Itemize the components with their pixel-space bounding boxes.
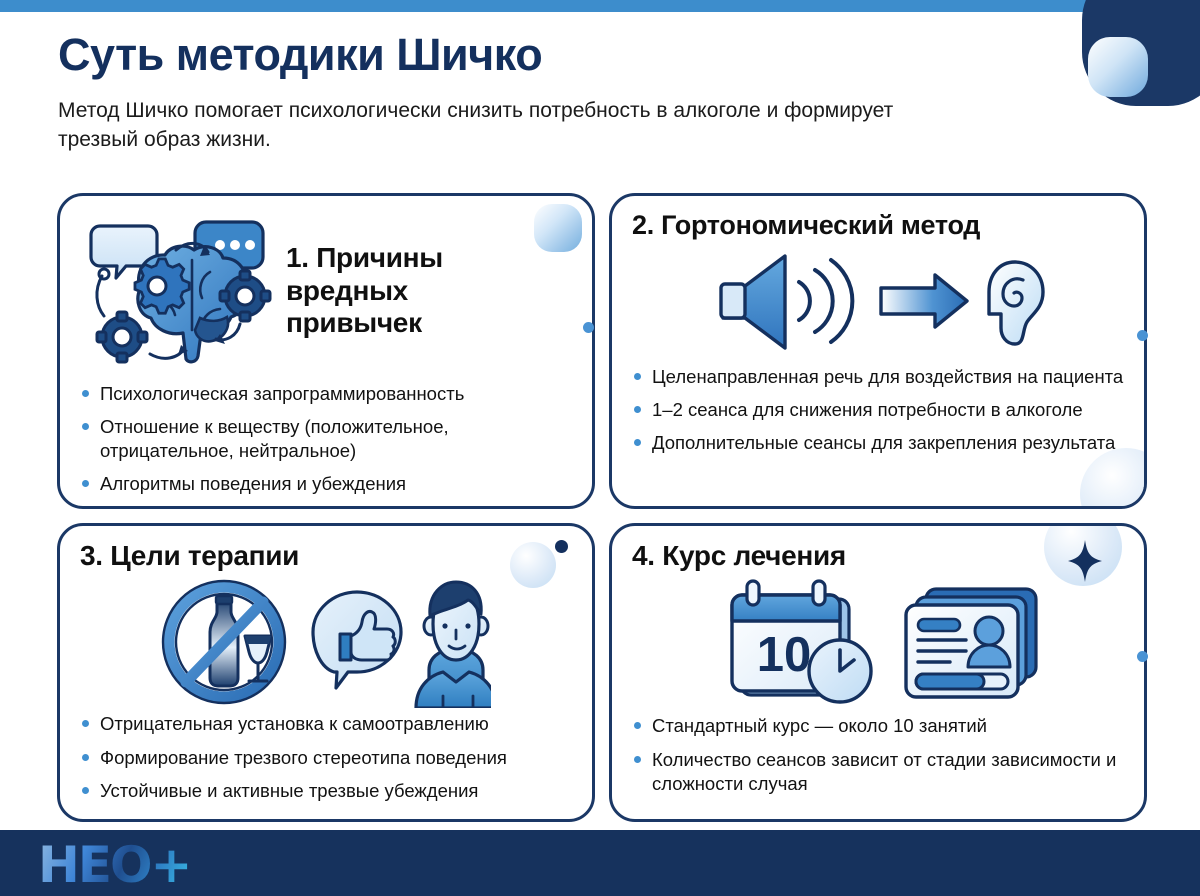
card-causes-of-bad-habits: 1. Причины вредных привычек Психологичес…: [57, 193, 595, 509]
card-decoration-dot: [555, 540, 568, 553]
infographic-page: Суть методики Шичко Метод Шичко помогает…: [0, 0, 1200, 896]
sparkle-icon: [1068, 540, 1102, 582]
list-item: 1–2 сеанса для снижения потребности в ал…: [632, 398, 1124, 422]
card-title: 4. Курс лечения: [632, 540, 846, 572]
accent-dot-left-column: [583, 322, 594, 333]
card-bullet-list: Психологическая запрограммированность От…: [80, 382, 572, 496]
card-gortonomic-method: 2. Гортономический метод: [609, 193, 1147, 509]
list-item: Алгоритмы поведения и убеждения: [80, 472, 572, 496]
card-header-row: 2. Гортономический метод: [632, 210, 1124, 241]
card-title: 3. Цели терапии: [80, 540, 299, 572]
list-item: Дополнительные сеансы для закрепления ре…: [632, 431, 1124, 455]
page-title: Суть методики Шичко: [58, 30, 1018, 80]
list-item: Отношение к веществу (положительное, отр…: [80, 415, 572, 463]
card-title: 1. Причины вредных привычек: [286, 242, 536, 339]
list-item: Устойчивые и активные трезвые убеждения: [80, 779, 572, 803]
top-accent-bar: [0, 0, 1200, 12]
accent-dot-right-column-lower: [1137, 651, 1148, 662]
calendar-10-idcards-icon: 10: [632, 572, 1124, 714]
card-decoration-circle: [1080, 448, 1147, 509]
footer-bar: НЕО+: [0, 830, 1200, 896]
speaker-arrow-ear-icon: [632, 241, 1124, 363]
list-item: Психологическая запрограммированность: [80, 382, 572, 406]
list-item: Стандартный курс — около 10 занятий: [632, 714, 1124, 738]
card-header-row: 3. Цели терапии: [80, 540, 572, 572]
card-bullet-list: Целенаправленная речь для воздействия на…: [632, 365, 1124, 455]
accent-dot-right-column: [1137, 330, 1148, 341]
corner-gradient-squircle-decoration: [1088, 37, 1148, 97]
no-alcohol-thumbsup-person-icon: [80, 572, 572, 712]
card-bullet-list: Отрицательная установка к самоотравлению…: [80, 712, 572, 802]
card-decoration-squircle: [534, 204, 582, 252]
card-bullet-list: Стандартный курс — около 10 занятий Коли…: [632, 714, 1124, 795]
brand-logo: НЕО+: [38, 836, 190, 894]
card-header-row: 1. Причины вредных привычек: [80, 210, 572, 372]
card-title: 2. Гортономический метод: [632, 210, 980, 241]
list-item: Отрицательная установка к самоотравлению: [80, 712, 572, 736]
page-subtitle: Метод Шичко помогает психологически сниз…: [58, 96, 898, 156]
header: Суть методики Шичко Метод Шичко помогает…: [58, 30, 1018, 155]
list-item: Количество сеансов зависит от стадии зав…: [632, 748, 1124, 796]
brain-gears-speech-bubbles-icon: [80, 214, 280, 369]
cards-grid: 1. Причины вредных привычек Психологичес…: [57, 193, 1147, 822]
list-item: Целенаправленная речь для воздействия на…: [632, 365, 1124, 389]
card-therapy-goals: 3. Цели терапии: [57, 523, 595, 822]
list-item: Формирование трезвого стереотипа поведен…: [80, 746, 572, 770]
card-treatment-course: 4. Курс лечения: [609, 523, 1147, 822]
card-decoration-circle: [510, 542, 556, 588]
svg-text:10: 10: [757, 628, 812, 682]
